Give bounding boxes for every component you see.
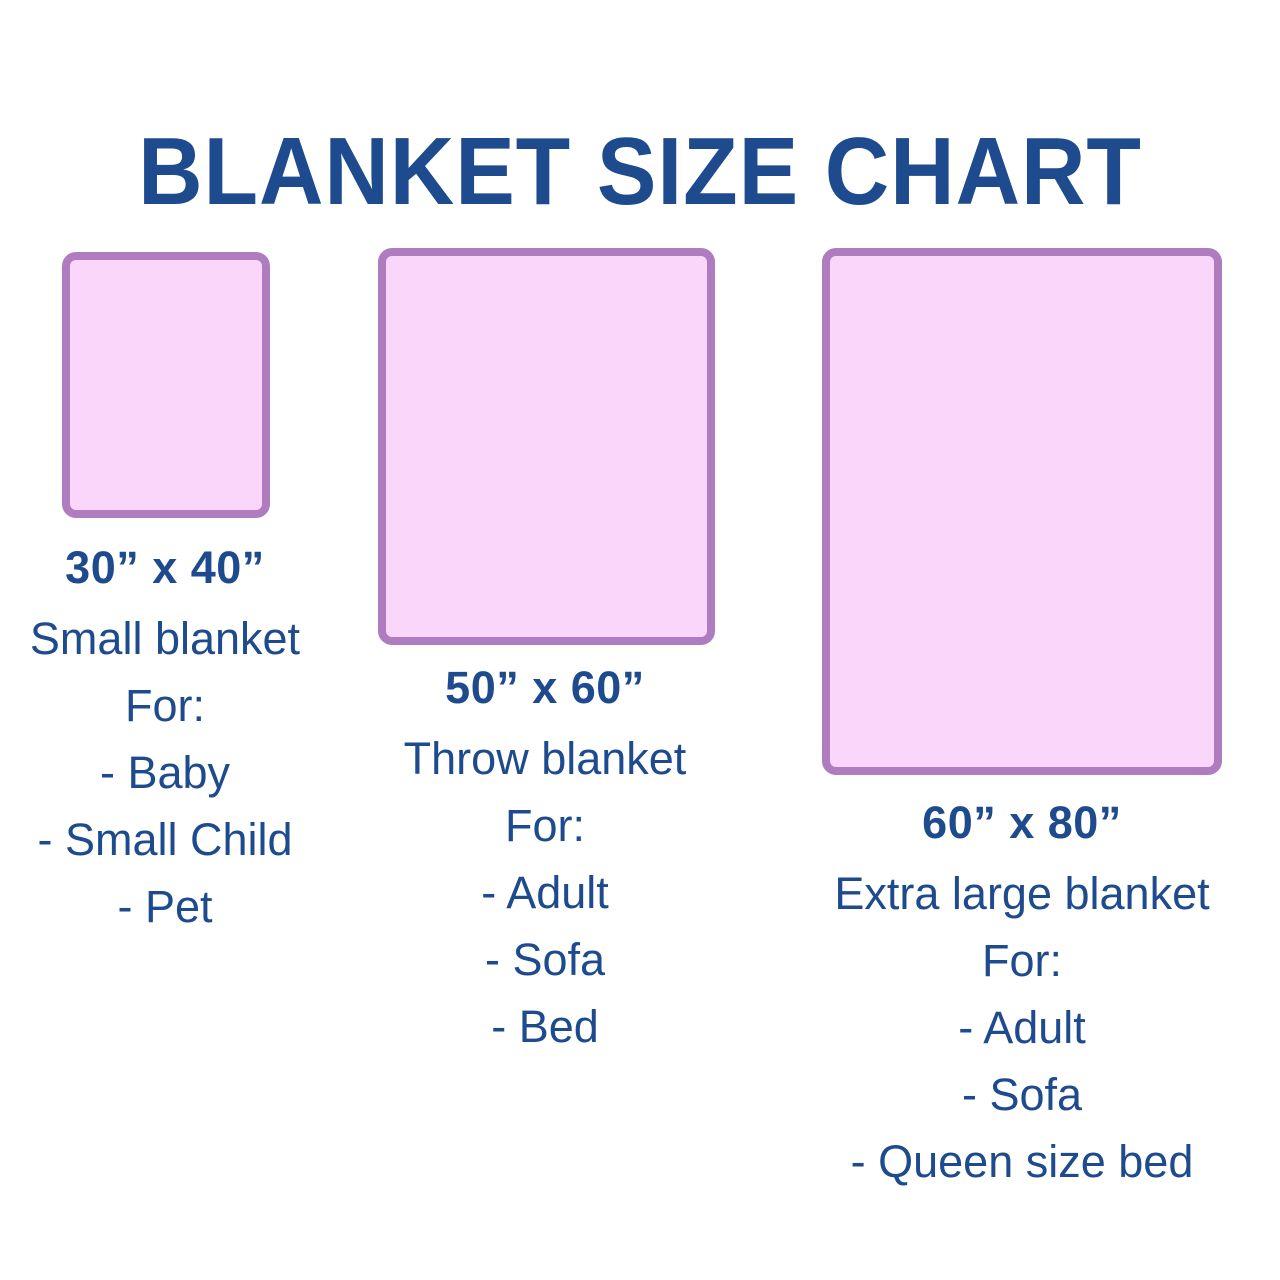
- list-item: - Queen size bed: [800, 1139, 1244, 1184]
- blanket-for-label-throw: For:: [375, 803, 715, 848]
- blanket-caption-extra-large: 60” x 80” Extra large blanket For: - Adu…: [800, 800, 1244, 1206]
- blanket-name-small: Small blanket: [0, 616, 335, 661]
- blanket-use-list-extra-large: - Adult - Sofa - Queen size bed: [800, 1005, 1244, 1184]
- list-item: - Sofa: [800, 1072, 1244, 1117]
- blanket-caption-small: 30” x 40” Small blanket For: - Baby - Sm…: [0, 545, 335, 951]
- blanket-for-label-extra-large: For:: [800, 938, 1244, 983]
- blanket-dimensions-extra-large: 60” x 80”: [800, 800, 1244, 845]
- list-item: - Small Child: [0, 817, 335, 862]
- list-item: - Adult: [375, 870, 715, 915]
- page-title: BLANKET SIZE CHART: [45, 124, 1235, 220]
- list-item: - Sofa: [375, 937, 715, 982]
- blanket-swatch-small: [62, 252, 270, 518]
- blanket-for-label-small: For:: [0, 683, 335, 728]
- blanket-name-extra-large: Extra large blanket: [800, 871, 1244, 916]
- blanket-caption-throw: 50” x 60” Throw blanket For: - Adult - S…: [375, 665, 715, 1071]
- blanket-name-throw: Throw blanket: [375, 736, 715, 781]
- blanket-use-list-small: - Baby - Small Child - Pet: [0, 750, 335, 929]
- blanket-dimensions-small: 30” x 40”: [0, 545, 335, 590]
- list-item: - Bed: [375, 1004, 715, 1049]
- list-item: - Pet: [0, 884, 335, 929]
- blanket-dimensions-throw: 50” x 60”: [375, 665, 715, 710]
- blanket-swatch-throw: [378, 248, 715, 645]
- blanket-size-chart-page: BLANKET SIZE CHART 30” x 40” Small blank…: [0, 0, 1280, 1280]
- blanket-use-list-throw: - Adult - Sofa - Bed: [375, 870, 715, 1049]
- list-item: - Adult: [800, 1005, 1244, 1050]
- list-item: - Baby: [0, 750, 335, 795]
- blanket-swatch-extra-large: [822, 248, 1222, 775]
